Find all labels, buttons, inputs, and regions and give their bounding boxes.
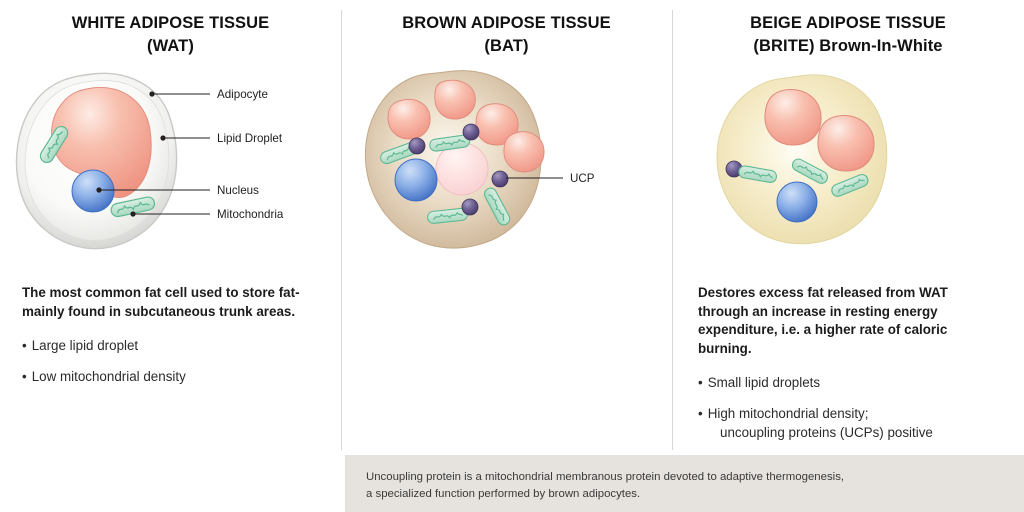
panel-title-bat-line2: (BAT)	[341, 35, 672, 58]
figure-wat-cell: Adipocyte Lipid Droplet Nucleus Mitochon…	[0, 62, 341, 272]
bat-lipid-droplet	[388, 99, 430, 139]
wat-callout-lipid-droplet: Lipid Droplet	[160, 132, 282, 145]
footnote-line-1: Uncoupling protein is a mitochondrial me…	[366, 469, 1024, 486]
bat-cell-illustration: UCP	[341, 62, 672, 272]
footnote-box: Uncoupling protein is a mitochondrial me…	[345, 455, 1024, 512]
wat-callout-lipid-droplet-label: Lipid Droplet	[217, 132, 283, 145]
bat-callout-ucp-label: UCP	[570, 172, 595, 185]
panel-title-bat-line1: BROWN ADIPOSE TISSUE	[402, 14, 611, 32]
beige-nucleus	[777, 182, 817, 222]
wat-bullet-main: Large lipid droplet	[32, 338, 138, 353]
bat-ucp-protein	[409, 138, 425, 154]
panel-title-beige: BEIGE ADIPOSE TISSUE (BRITE) Brown-In-Wh…	[672, 12, 1024, 58]
bat-ucp-protein	[492, 171, 508, 187]
panel-title-beige-line1: BEIGE ADIPOSE TISSUE	[750, 14, 946, 32]
bat-ucp-protein	[463, 124, 479, 140]
bat-nucleus	[395, 159, 437, 201]
wat-callout-nucleus-label: Nucleus	[217, 184, 259, 197]
figure-bat-cell: UCP	[341, 62, 672, 272]
panel-title-beige-line2: (BRITE) Brown-In-White	[672, 35, 1024, 58]
wat-callout-mitochondria-label: Mitochondria	[217, 208, 284, 221]
bat-lipid-droplet-pale	[436, 143, 488, 195]
beige-cell-illustration	[672, 62, 1024, 272]
panel-divider	[341, 10, 342, 450]
wat-bullet-main: Low mitochondrial density	[32, 369, 186, 384]
bat-ucp-protein	[462, 199, 478, 215]
wat-bullet-list: Large lipid droplet Low mitochondrial de…	[22, 337, 322, 386]
wat-lead-paragraph: The most common fat cell used to store f…	[22, 284, 322, 321]
figure-beige-cell	[672, 62, 1024, 272]
panel-divider	[672, 10, 673, 450]
wat-callout-adipocyte-label: Adipocyte	[217, 88, 268, 101]
panel-title-bat: BROWN ADIPOSE TISSUE (BAT)	[341, 12, 672, 58]
wat-nucleus-body	[72, 170, 114, 212]
body-text-wat: The most common fat cell used to store f…	[22, 284, 322, 398]
wat-bullet-item: Large lipid droplet	[22, 337, 322, 356]
wat-bullet-item: Low mitochondrial density	[22, 368, 322, 387]
beige-lipid-droplet	[818, 116, 874, 171]
bat-lipid-droplet	[504, 132, 544, 172]
wat-callout-adipocyte: Adipocyte	[149, 88, 268, 101]
panel-beige-adipose-tissue: BEIGE ADIPOSE TISSUE (BRITE) Brown-In-Wh…	[672, 0, 1024, 460]
panel-title-wat-line1: WHITE ADIPOSE TISSUE	[72, 14, 270, 32]
panel-white-adipose-tissue: WHITE ADIPOSE TISSUE (WAT)	[0, 0, 341, 460]
panel-title-wat-line2: (WAT)	[0, 35, 341, 58]
bat-lipid-droplet	[435, 80, 476, 119]
beige-lipid-droplet	[765, 90, 821, 145]
footnote-line-2: a specialized function performed by brow…	[366, 486, 1024, 503]
panel-brown-adipose-tissue: BROWN ADIPOSE TISSUE (BAT)	[341, 0, 672, 460]
wat-cell-illustration: Adipocyte Lipid Droplet Nucleus Mitochon…	[0, 62, 341, 272]
panel-title-wat: WHITE ADIPOSE TISSUE (WAT)	[0, 12, 341, 58]
